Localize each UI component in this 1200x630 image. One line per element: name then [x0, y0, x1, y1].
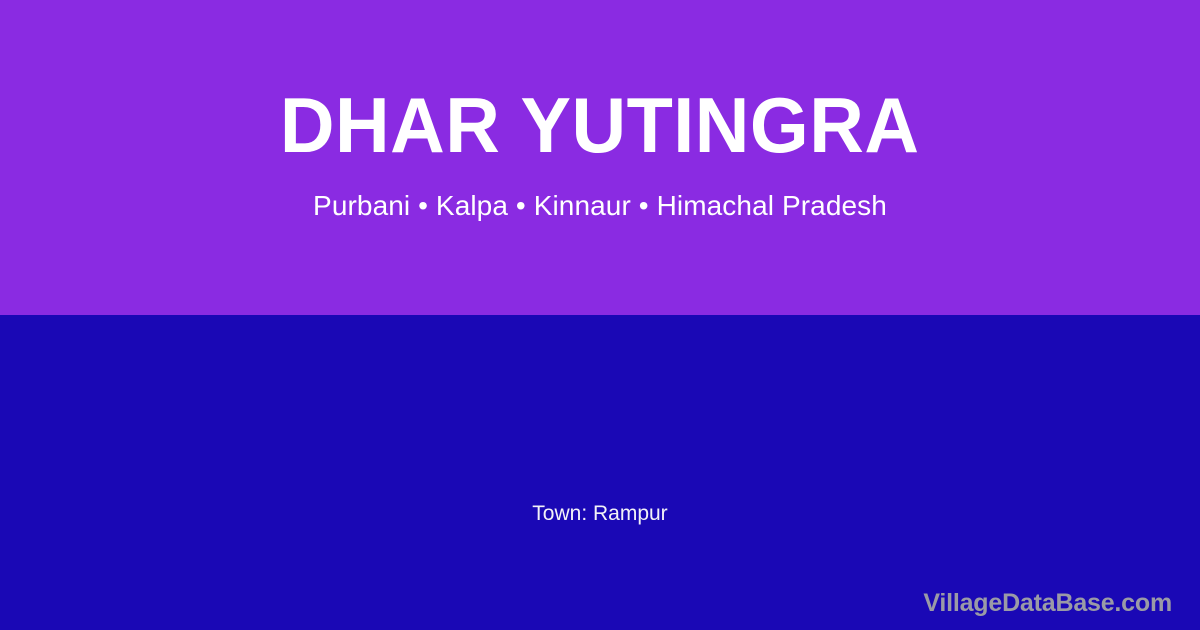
location-breadcrumb: Purbani • Kalpa • Kinnaur • Himachal Pra… — [313, 164, 887, 222]
village-info-card: DHAR YUTINGRA Purbani • Kalpa • Kinnaur … — [0, 0, 1200, 630]
nearest-town-label: Town: Rampur — [0, 501, 1200, 526]
info-panel: Town: Rampur — [0, 315, 1200, 630]
site-watermark: VillageDataBase.com — [923, 588, 1172, 618]
hero-banner: DHAR YUTINGRA Purbani • Kalpa • Kinnaur … — [0, 0, 1200, 315]
page-title: DHAR YUTINGRA — [280, 86, 920, 164]
